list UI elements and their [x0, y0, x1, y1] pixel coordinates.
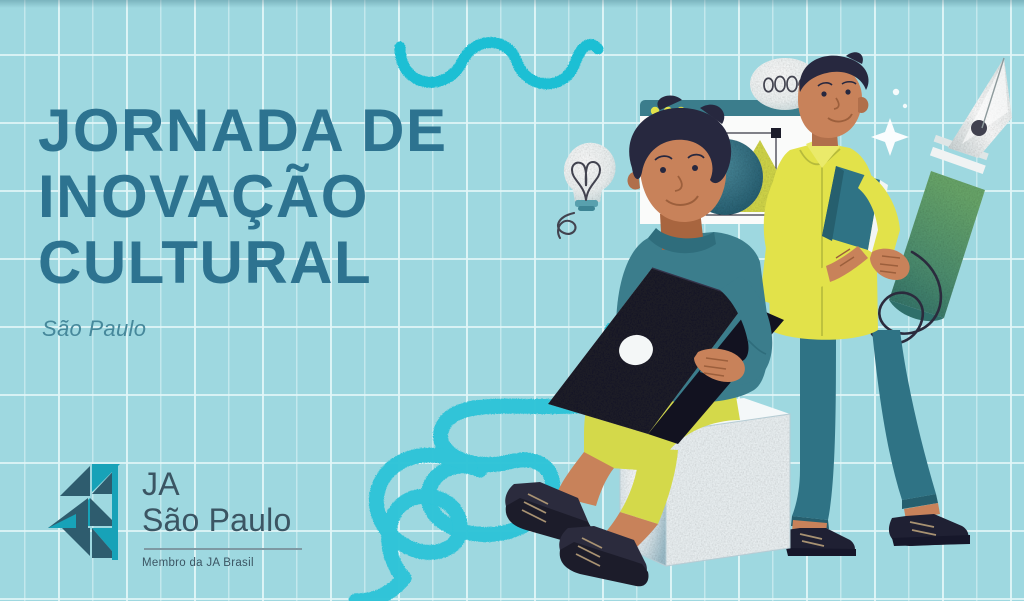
giant-fountain-pen — [889, 58, 1012, 321]
shoe — [785, 528, 856, 556]
hand — [694, 349, 745, 382]
shoe — [505, 482, 594, 546]
sparkle-icon — [871, 89, 909, 156]
headline-block: JORNADA DE INOVAÇÃO CULTURAL São Paulo — [38, 98, 447, 342]
selection-handle — [771, 128, 781, 138]
window-dot — [677, 107, 685, 115]
window-dot — [651, 107, 659, 115]
idea-lightbulb-icon — [558, 143, 616, 238]
laces — [522, 494, 548, 522]
arm-sleeve — [764, 176, 866, 289]
shoe — [559, 526, 648, 586]
hair — [629, 108, 731, 183]
logo-divider — [144, 548, 302, 550]
laces — [576, 538, 602, 566]
pants — [584, 336, 710, 470]
nose — [675, 176, 682, 191]
sweater — [616, 232, 768, 403]
canvas-triangle — [718, 140, 800, 212]
title-line-2: INOVAÇÃO — [38, 164, 447, 230]
wave-squiggle-icon — [400, 43, 598, 84]
poster-canvas: JORNADA DE INOVAÇÃO CULTURAL São Paulo J… — [0, 0, 1024, 601]
hand — [826, 246, 868, 282]
leg-skin — [556, 452, 614, 506]
leg-skin — [602, 512, 658, 548]
mouth — [828, 114, 852, 121]
eye — [821, 91, 826, 96]
selection-handle — [667, 210, 677, 220]
nose — [834, 98, 839, 109]
eye — [845, 89, 850, 94]
shirt — [768, 142, 878, 340]
ja-sao-paulo-logo[interactable]: JA São Paulo Membro da JA Brasil — [46, 462, 302, 569]
title-line-3: CULTURAL — [38, 230, 447, 296]
notebook — [822, 166, 888, 255]
arm-sleeve — [858, 172, 900, 258]
canvas-circle — [687, 139, 763, 215]
logo-text-column: JA São Paulo Membro da JA Brasil — [142, 462, 302, 569]
arm-sleeve — [700, 276, 772, 384]
textured-cube — [620, 398, 790, 566]
top-edge-shadow — [0, 0, 1024, 8]
design-app-window — [640, 100, 818, 224]
pen-cord — [872, 252, 941, 344]
event-location-subtitle: São Paulo — [42, 316, 447, 342]
title-line-1: JORNADA DE — [38, 98, 447, 164]
eye — [660, 167, 666, 173]
logo-word-sao-paulo: São Paulo — [142, 502, 302, 538]
mouth — [666, 196, 698, 205]
logo-word-ja: JA — [142, 466, 302, 502]
ja-logo-mark-icon — [46, 462, 124, 562]
eye — [692, 165, 698, 171]
window-dot — [664, 107, 672, 115]
curly-squiggle-icon — [356, 330, 625, 601]
person-with-laptop — [505, 95, 784, 586]
person-with-pen — [760, 52, 970, 556]
laptop — [548, 268, 784, 444]
selection-handle — [771, 210, 781, 220]
shoe — [889, 514, 970, 546]
logo-tagline: Membro da JA Brasil — [142, 557, 302, 569]
thought-bubble-icon — [750, 58, 820, 114]
laptop-logo — [617, 332, 656, 367]
hand — [870, 249, 910, 280]
selection-handle — [667, 128, 677, 138]
